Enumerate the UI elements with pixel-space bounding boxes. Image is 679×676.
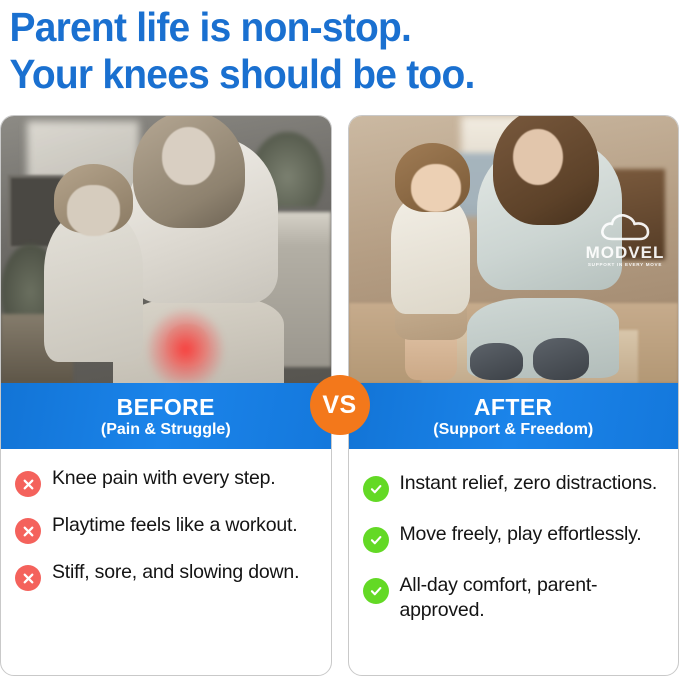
before-photo: [1, 116, 331, 383]
modvel-watermark: MODVEL SUPPORT IN EVERY MOVE: [582, 212, 668, 268]
check-circle-icon: [363, 527, 389, 553]
knee-pain-glow: [146, 308, 225, 383]
child-face-shape: [67, 185, 120, 236]
after-banner-title: AFTER: [349, 394, 679, 420]
after-bullet-list: Instant relief, zero distractions. Move …: [349, 449, 679, 675]
mother-face-shape: [513, 129, 562, 185]
list-item: Stiff, sore, and slowing down.: [15, 560, 317, 591]
list-item-label: Move freely, play effortlessly.: [400, 522, 642, 547]
list-item: All-day comfort, parent-approved.: [363, 573, 665, 623]
knee-pad-right: [533, 338, 589, 381]
list-item: Knee pain with every step.: [15, 466, 317, 497]
headline-line-1: Parent life is non-stop.: [10, 4, 636, 51]
after-banner: AFTER (Support & Freedom): [349, 383, 679, 449]
x-circle-icon: [15, 565, 41, 591]
vs-badge: VS: [310, 375, 370, 435]
mother-face-shape: [162, 127, 215, 186]
comparison-grid: BEFORE (Pain & Struggle) Knee pain with …: [0, 115, 679, 676]
x-circle-icon: [15, 471, 41, 497]
list-item: Playtime feels like a workout.: [15, 513, 317, 544]
brand-name: MODVEL: [582, 244, 668, 261]
before-banner-subtitle: (Pain & Struggle): [1, 420, 331, 440]
knee-pad-left: [470, 343, 523, 380]
before-bullet-list: Knee pain with every step. Playtime feel…: [1, 449, 331, 675]
child-body-shape: [391, 196, 470, 313]
cloud-icon: [598, 212, 652, 242]
comparison-infographic: Parent life is non-stop. Your knees shou…: [0, 0, 679, 676]
page-title: Parent life is non-stop. Your knees shou…: [0, 4, 645, 98]
list-item: Instant relief, zero distractions.: [363, 471, 665, 502]
list-item-label: Instant relief, zero distractions.: [400, 471, 658, 496]
x-circle-icon: [15, 518, 41, 544]
after-photo: MODVEL SUPPORT IN EVERY MOVE: [349, 116, 679, 383]
list-item-label: Playtime feels like a workout.: [52, 513, 297, 538]
before-banner: BEFORE (Pain & Struggle): [1, 383, 331, 449]
list-item-label: Stiff, sore, and slowing down.: [52, 560, 299, 585]
child-face-shape: [411, 164, 460, 212]
check-circle-icon: [363, 476, 389, 502]
before-banner-title: BEFORE: [1, 394, 331, 420]
check-circle-icon: [363, 578, 389, 604]
after-banner-subtitle: (Support & Freedom): [349, 420, 679, 440]
after-card: MODVEL SUPPORT IN EVERY MOVE AFTER (Supp…: [348, 115, 679, 676]
list-item-label: Knee pain with every step.: [52, 466, 276, 491]
list-item: Move freely, play effortlessly.: [363, 522, 665, 553]
list-item-label: All-day comfort, parent-approved.: [400, 573, 665, 623]
brand-tagline: SUPPORT IN EVERY MOVE: [582, 263, 668, 268]
before-card: BEFORE (Pain & Struggle) Knee pain with …: [0, 115, 332, 676]
headline-line-2: Your knees should be too.: [10, 51, 636, 98]
